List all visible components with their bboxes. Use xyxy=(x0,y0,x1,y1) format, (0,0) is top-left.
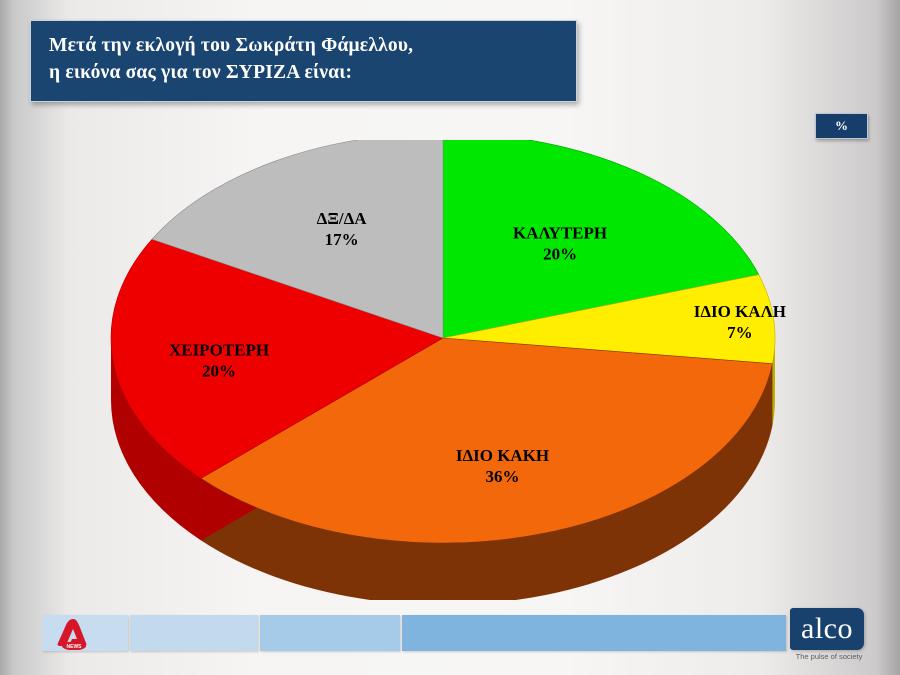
footer-segment-4 xyxy=(402,615,786,651)
unit-badge: % xyxy=(815,113,868,139)
alco-tagline: The pulse of society xyxy=(786,652,872,661)
footer-segment-2 xyxy=(130,615,258,651)
slide-title-bar: Μετά την εκλογή του Σωκράτη Φάμελλου, η … xyxy=(30,20,577,102)
alco-logo: alco xyxy=(790,608,864,650)
alco-logo-text: alco xyxy=(801,614,853,644)
footer-segment-3 xyxy=(260,615,400,651)
slide-title-line-2: η εικόνα σας για τον ΣΥΡΙΖΑ είναι: xyxy=(49,62,576,84)
footer-bar: NEWS xyxy=(0,603,900,675)
pie-chart: ΚΑΛΥΤΕΡΗ20%ΙΔΙΟ ΚΑΛΗ7%ΙΔΙΟ ΚΑΚΗ36%ΧΕΙΡΟΤ… xyxy=(0,140,900,600)
slide-title-line-1: Μετά την εκλογή του Σωκράτη Φάμελλου, xyxy=(49,35,576,57)
alpha-news-logo-icon: NEWS xyxy=(52,617,96,650)
pie-chart-svg: ΚΑΛΥΤΕΡΗ20%ΙΔΙΟ ΚΑΛΗ7%ΙΔΙΟ ΚΑΚΗ36%ΧΕΙΡΟΤ… xyxy=(0,140,900,600)
svg-text:NEWS: NEWS xyxy=(67,644,83,650)
